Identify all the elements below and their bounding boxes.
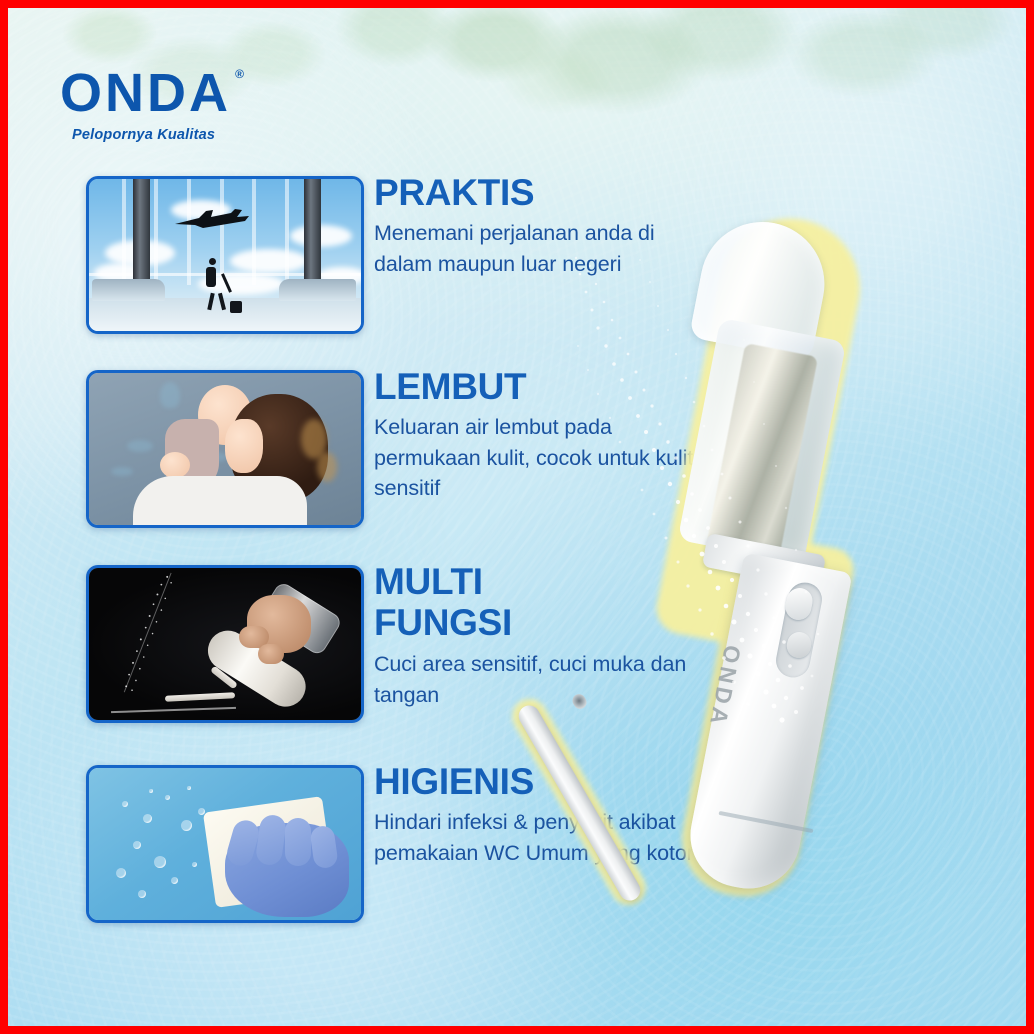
water-spray-icon: [105, 571, 214, 708]
brand-logo: ONDA ® Pelopornya Kualitas: [60, 66, 320, 143]
brand-name-text: ONDA: [60, 63, 231, 123]
poster-canvas: ONDA ® Pelopornya Kualitas: [8, 8, 1026, 1026]
mother-and-baby-photo: [86, 370, 364, 528]
water-spray-particles: [568, 236, 858, 736]
product-hero-photo: ONDA: [528, 208, 1026, 948]
registered-trademark-icon: ®: [235, 68, 244, 80]
airplane-icon: [173, 209, 251, 229]
brand-wordmark: ONDA ®: [60, 66, 231, 120]
brand-tagline: Pelopornya Kualitas: [72, 127, 320, 143]
feature-heading: PRAKTIS: [374, 174, 704, 211]
handheld-bidet-spray-photo: [86, 565, 364, 723]
airport-traveler-photo: [86, 176, 364, 334]
gloved-hand-wiping-photo: [86, 765, 364, 923]
